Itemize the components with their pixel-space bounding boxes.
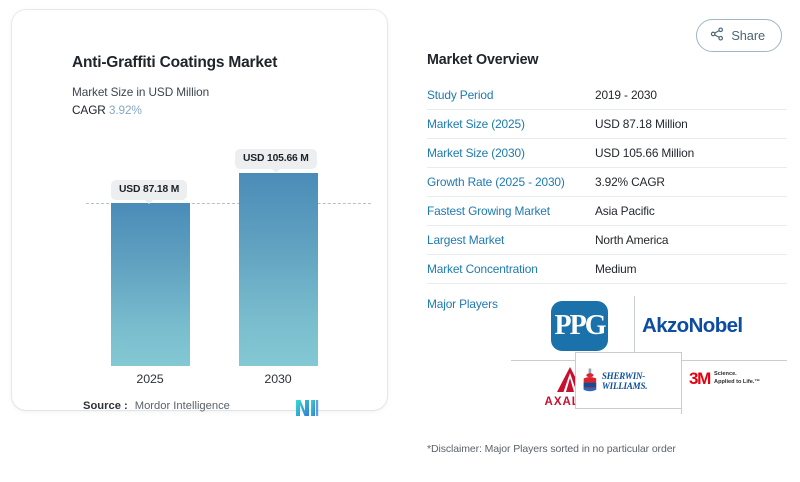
sherwin-williams-logo: SHERWIN-WILLIAMS.: [575, 352, 682, 409]
source-row: Source : Mordor Intelligence: [83, 400, 230, 412]
table-row: Study Period 2019 - 2030: [427, 81, 787, 110]
x-axis-tick-2030: 2030: [233, 372, 323, 386]
row-label-fastest-growing-market: Fastest Growing Market: [427, 204, 595, 218]
table-row: Market Concentration Medium: [427, 255, 787, 284]
bar-chart-plot: USD 87.18 M USD 105.66 M 2025 2030: [12, 10, 387, 410]
ppg-logo-text: PPG: [555, 312, 605, 340]
row-value-largest-market: North America: [595, 233, 668, 247]
grid-divider-vertical-top: [634, 296, 635, 360]
row-value-fastest-growing-market: Asia Pacific: [595, 204, 655, 218]
mordor-intelligence-logo: [295, 399, 319, 422]
3m-tagline-line1: Science.: [714, 371, 760, 379]
ppg-logo: PPG: [551, 301, 608, 351]
table-row: Growth Rate (2025 - 2030) 3.92% CAGR: [427, 168, 787, 197]
bar-value-label-2030: USD 105.66 M: [235, 149, 317, 169]
sherwin-williams-logo-text: SHERWIN-WILLIAMS.: [602, 371, 681, 391]
3m-tagline-line2: Applied to Life.™: [714, 379, 760, 387]
disclaimer-text: *Disclaimer: Major Players sorted in no …: [427, 443, 676, 455]
table-row: Largest Market North America: [427, 226, 787, 255]
row-label-market-concentration: Market Concentration: [427, 262, 595, 276]
row-label-study-period: Study Period: [427, 88, 595, 102]
source-value: Mordor Intelligence: [135, 400, 230, 412]
x-axis-tick-2025: 2025: [105, 372, 195, 386]
table-row: Market Size (2030) USD 105.66 Million: [427, 139, 787, 168]
3m-logo: 3M Science. Applied to Life.™: [689, 369, 760, 389]
row-value-market-size-2030: USD 105.66 Million: [595, 146, 694, 160]
akzonobel-logo: AkzoNobel: [642, 314, 743, 338]
bar-2025[interactable]: [111, 203, 190, 366]
market-overview-table: Study Period 2019 - 2030 Market Size (20…: [427, 81, 787, 314]
source-label: Source :: [83, 400, 128, 412]
major-players-logo-grid: PPG AkzoNobel AXALTA SHERWIN-WILLIAMS. 3…: [511, 296, 787, 414]
row-label-market-size-2025: Market Size (2025): [427, 117, 595, 131]
bar-2030[interactable]: [239, 173, 318, 366]
sherwin-williams-paint-icon: [581, 366, 599, 396]
row-label-growth-rate: Growth Rate (2025 - 2030): [427, 175, 595, 189]
table-row: Market Size (2025) USD 87.18 Million: [427, 110, 787, 139]
row-value-market-concentration: Medium: [595, 262, 636, 276]
row-value-growth-rate: 3.92% CAGR: [595, 175, 665, 189]
row-value-market-size-2025: USD 87.18 Million: [595, 117, 688, 131]
table-row: Fastest Growing Market Asia Pacific: [427, 197, 787, 226]
share-nodes-icon: [710, 27, 724, 44]
3m-tagline: Science. Applied to Life.™: [714, 371, 760, 386]
chart-card: Anti-Graffiti Coatings Market Market Siz…: [12, 10, 387, 410]
bar-value-label-2025: USD 87.18 M: [111, 180, 187, 200]
row-label-largest-market: Largest Market: [427, 233, 595, 247]
market-overview-title: Market Overview: [427, 52, 538, 68]
market-report-page: Anti-Graffiti Coatings Market Market Siz…: [0, 0, 800, 482]
share-button[interactable]: Share: [696, 19, 782, 52]
share-button-label: Share: [731, 28, 765, 43]
row-label-market-size-2030: Market Size (2030): [427, 146, 595, 160]
row-value-study-period: 2019 - 2030: [595, 88, 657, 102]
3m-logo-text: 3M: [689, 369, 710, 389]
